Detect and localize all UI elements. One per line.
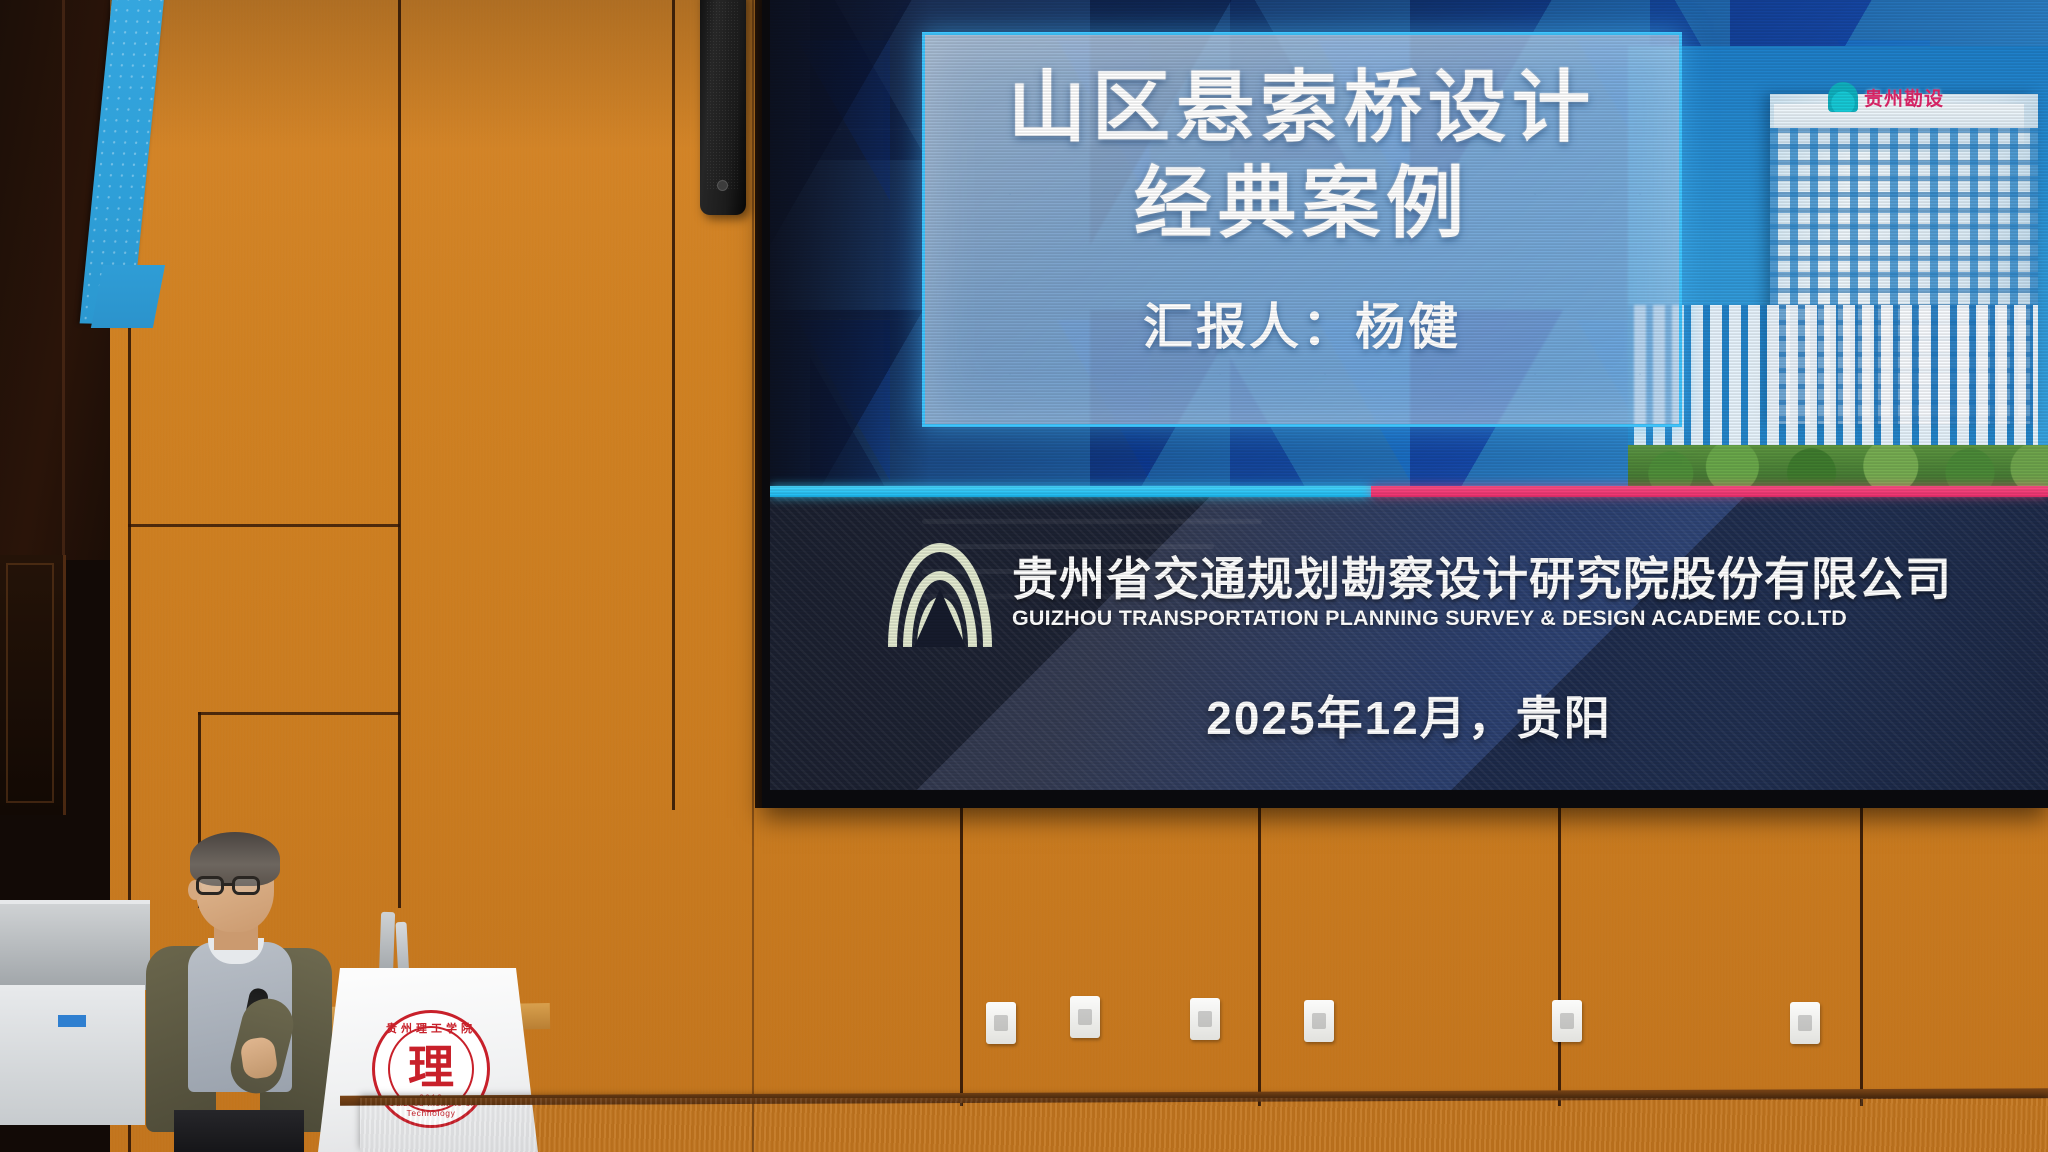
side-door[interactable] (0, 555, 66, 815)
wall-outlet[interactable] (1790, 1002, 1820, 1044)
slide-lower-section: 贵州省交通规划勘察设计研究院股份有限公司 GUIZHOU TRANSPORTAT… (770, 497, 2048, 790)
door-panel (6, 563, 54, 803)
blue-banner-fold (91, 265, 165, 328)
slide-presenter-line: 汇报人：杨健 (1143, 287, 1461, 359)
slide-title-card: 山区悬索桥设计 经典案例 汇报人：杨健 (922, 32, 1682, 427)
led-screen[interactable]: 贵州勘设 山区悬索桥设计 经典案例 汇报人：杨健 (770, 0, 2048, 790)
emblem-mark-glyph: 理 (408, 1044, 454, 1090)
slide-divider (770, 486, 2048, 497)
rooftop-sign-logo-icon (1828, 82, 1858, 112)
side-cabinet (0, 985, 145, 1125)
speaker-screw-icon (717, 180, 728, 191)
side-table-top (0, 900, 150, 990)
presentation-scene: 贵州勘设 山区悬索桥设计 经典案例 汇报人：杨健 (0, 0, 2048, 1152)
slide-title-line-1: 山区悬索桥设计 (1008, 61, 1596, 153)
trousers (174, 1110, 304, 1152)
slide-left-vignette (770, 0, 930, 493)
wall-seam (752, 0, 754, 1152)
divider-pink-segment (1371, 486, 2048, 497)
wall-seam (198, 712, 400, 715)
company-name-chinese: 贵州省交通规划勘察设计研究院股份有限公司 (1012, 555, 1952, 603)
wall-outlet[interactable] (1070, 996, 1100, 1038)
wall-speaker (700, 0, 746, 215)
glasses-icon (196, 876, 270, 896)
wall-seam (128, 524, 400, 527)
wall-seam (1558, 806, 1561, 1106)
company-name-english: GUIZHOU TRANSPORTATION PLANNING SURVEY &… (1012, 606, 1952, 631)
wall-seam (672, 0, 675, 810)
building-photo: 贵州勘设 (1628, 46, 2048, 493)
slide-date-location: 2025年12月，贵阳 (770, 682, 2048, 748)
wall-seam (398, 0, 401, 560)
divider-cyan-segment (770, 486, 1371, 497)
wall-outlet[interactable] (1552, 1000, 1582, 1042)
wall-seam (1258, 806, 1261, 1106)
cabinet-label (58, 1015, 86, 1027)
slide-title-line-2: 经典案例 (1134, 157, 1470, 249)
arch-logo-icon (886, 539, 994, 647)
wall-outlet[interactable] (1304, 1000, 1334, 1042)
slide-upper-section: 贵州勘设 山区悬索桥设计 经典案例 汇报人：杨健 (770, 0, 2048, 493)
wall-seam (960, 806, 963, 1106)
wall-seam (398, 560, 401, 908)
wall-seam (1860, 806, 1863, 1106)
wall-outlet[interactable] (1190, 998, 1220, 1040)
presenter-person (140, 838, 340, 1152)
stage-surface (360, 1098, 2048, 1152)
rooftop-sign-text: 贵州勘设 (1864, 84, 1944, 111)
rooftop-sign: 贵州勘设 (1828, 80, 2028, 114)
company-identity-block: 贵州省交通规划勘察设计研究院股份有限公司 GUIZHOU TRANSPORTAT… (886, 539, 1952, 647)
emblem-name-chinese: 贵州理工学院 (375, 1020, 487, 1036)
photo-podium-building (1628, 305, 2038, 465)
